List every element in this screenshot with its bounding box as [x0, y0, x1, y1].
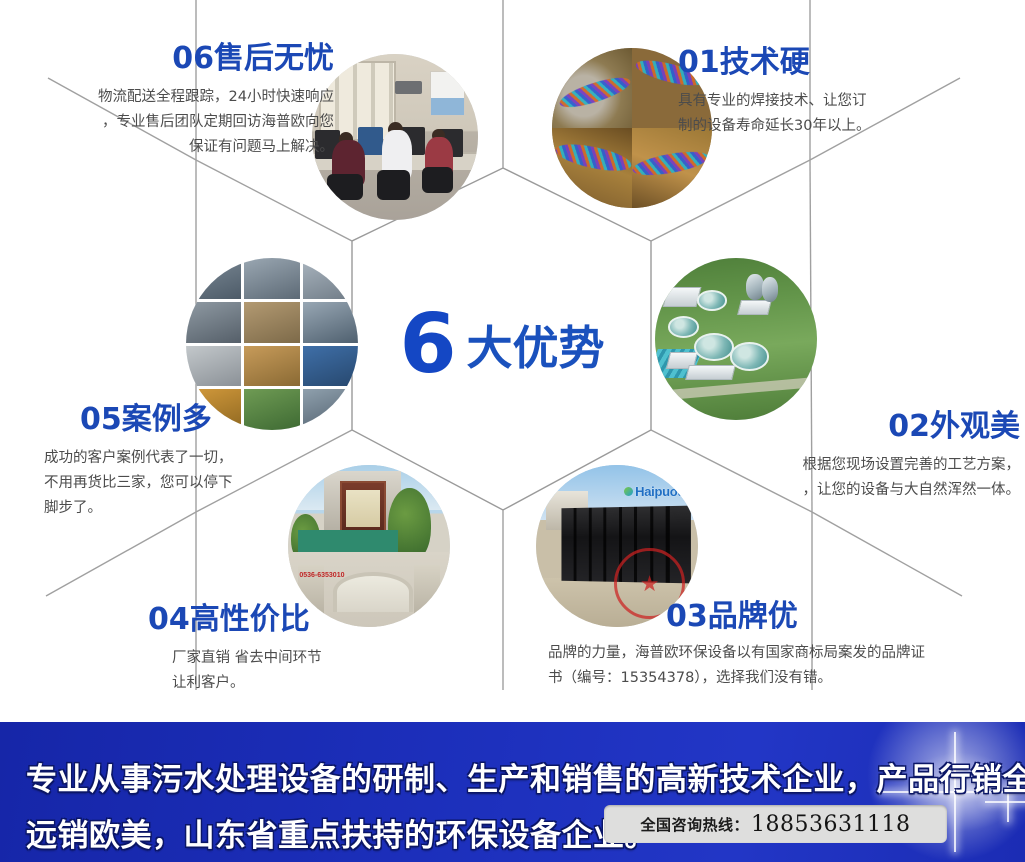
feature-image-02	[655, 258, 817, 420]
desc-line: 书（编号：15354378），选择我们没有错。	[548, 666, 1018, 691]
feature-desc-06: 物流配送全程跟踪，24小时快速响应 ，专业售后团队定期回访海普欧向您 保证有问题…	[10, 85, 334, 160]
desc-line: 保证有问题马上解决。	[10, 135, 334, 160]
feature-desc-03: 品牌的力量，海普欧环保设备以有国家商标局案发的品牌证 书（编号：15354378…	[548, 641, 1018, 691]
feature-desc-04: 厂家直销 省去中间环节 让利客户。	[172, 646, 488, 696]
feature-title-01: 01技术硬	[678, 48, 1008, 78]
feature-title-02: 02外观美	[630, 412, 1020, 442]
desc-line: 具有专业的焊接技术、让您订	[678, 89, 1008, 114]
feature-desc-05: 成功的客户案例代表了一切， 不用再货比三家，您可以停下 脚步了。	[44, 446, 374, 521]
feature-text-04: 04高性价比 厂家直销 省去中间环节 让利客户。	[148, 605, 488, 696]
office-team-photo	[312, 54, 478, 220]
feature-text-01: 01技术硬 具有专业的焊接技术、让您订 制的设备寿命延长30年以上。	[678, 48, 1008, 139]
desc-line: 厂家直销 省去中间环节	[172, 646, 488, 671]
desc-line: 物流配送全程跟踪，24小时快速响应	[10, 85, 334, 110]
desc-line: 让利客户。	[172, 671, 488, 696]
desc-line: 制的设备寿命延长30年以上。	[678, 114, 1008, 139]
desc-line: 品牌的力量，海普欧环保设备以有国家商标局案发的品牌证	[548, 641, 1018, 666]
banner-line-1: 专业从事污水处理设备的研制、生产和销售的高新技术企业，产品行销全国并	[26, 754, 1025, 799]
star-icon: ★	[640, 573, 660, 595]
hotline-number: 18853631118	[751, 812, 910, 837]
feature-title-05: 05案例多	[80, 405, 374, 435]
logo-text: Haipuou	[635, 484, 685, 499]
gate-phone-text: 0536-6353010	[299, 572, 344, 579]
desc-line: 脚步了。	[44, 496, 374, 521]
feature-text-05: 05案例多 成功的客户案例代表了一切， 不用再货比三家，您可以停下 脚步了。	[44, 405, 374, 521]
aerial-plant-photo	[655, 258, 817, 420]
desc-line: 成功的客户案例代表了一切，	[44, 446, 374, 471]
feature-title-04: 04高性价比	[148, 605, 488, 635]
desc-line: ，专业售后团队定期回访海普欧向您	[10, 110, 334, 135]
infographic-root: 06售后无忧 物流配送全程跟踪，24小时快速响应 ，专业售后团队定期回访海普欧向…	[0, 0, 1025, 862]
feature-image-06	[312, 54, 478, 220]
banner-line-2: 远销欧美，山东省重点扶持的环保设备企业。	[26, 810, 656, 855]
feature-text-03: 03品牌优 品牌的力量，海普欧环保设备以有国家商标局案发的品牌证 书（编号：15…	[548, 602, 1018, 691]
haipuou-logo: Haipuou	[620, 481, 685, 502]
hotline-label: 全国咨询热线：	[641, 814, 750, 835]
desc-line: 不用再货比三家，您可以停下	[44, 471, 374, 496]
logo-dot-icon	[624, 487, 633, 496]
feature-title-03: 03品牌优	[666, 602, 1018, 632]
hotline-box[interactable]: 全国咨询热线： 18853631118	[604, 805, 947, 843]
feature-title-06: 06售后无忧	[10, 44, 334, 74]
feature-desc-01: 具有专业的焊接技术、让您订 制的设备寿命延长30年以上。	[678, 89, 1008, 139]
feature-text-06: 06售后无忧 物流配送全程跟踪，24小时快速响应 ，专业售后团队定期回访海普欧向…	[10, 44, 334, 160]
